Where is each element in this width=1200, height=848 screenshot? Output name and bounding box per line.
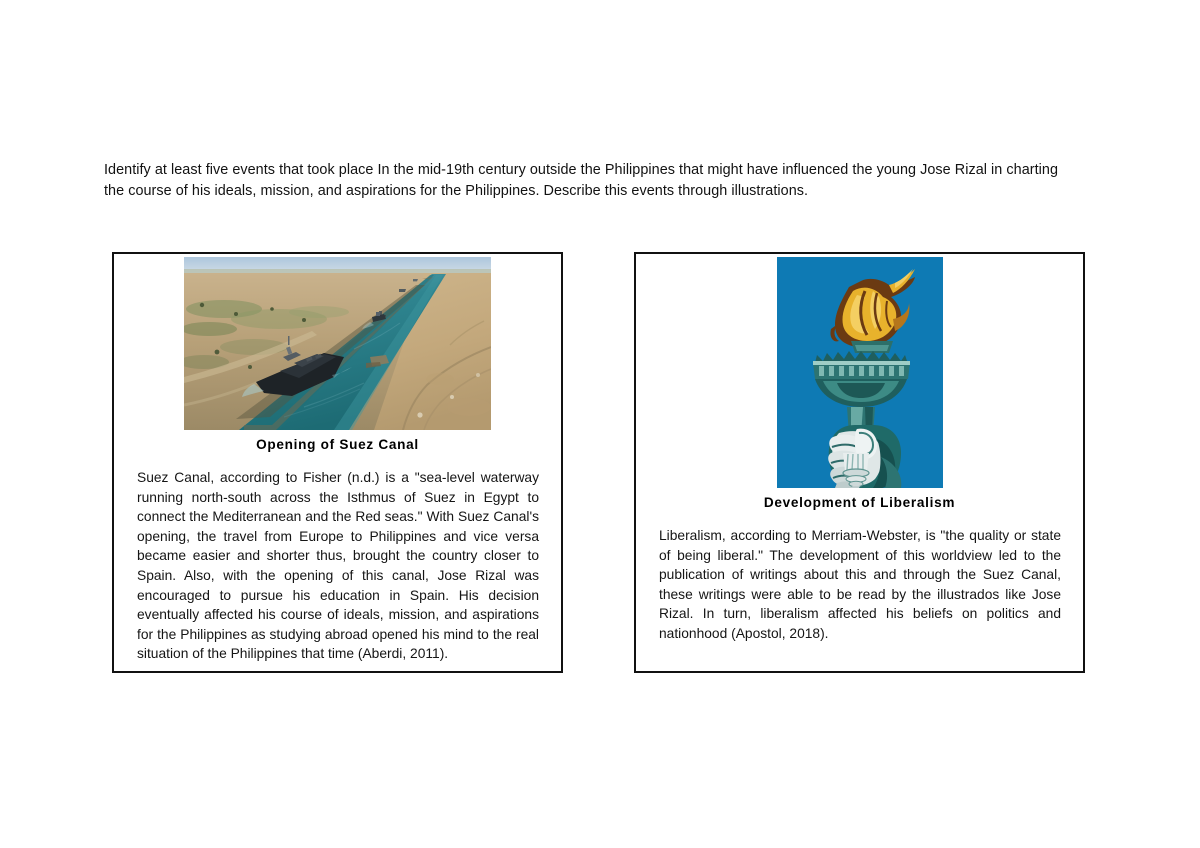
card-caption-suez: Opening of Suez Canal: [124, 437, 551, 452]
statue-of-liberty-torch-illustration: [777, 257, 943, 488]
card-body-liberalism: Liberalism, according to Merriam-Webster…: [659, 526, 1061, 644]
card-caption-liberalism: Development of Liberalism: [646, 495, 1073, 510]
card-development-of-liberalism: Development of Liberalism Liberalism, ac…: [634, 252, 1085, 673]
card-body-suez: Suez Canal, according to Fisher (n.d.) i…: [137, 468, 539, 664]
suez-canal-aerial-photo: [184, 257, 491, 430]
assignment-prompt: Identify at least five events that took …: [104, 160, 1062, 202]
figure-statue-of-liberty: [646, 257, 1073, 488]
card-opening-of-suez-canal: Opening of Suez Canal Suez Canal, accord…: [112, 252, 563, 673]
figure-suez-canal: [124, 257, 551, 430]
document-page: Identify at least five events that took …: [0, 0, 1200, 848]
